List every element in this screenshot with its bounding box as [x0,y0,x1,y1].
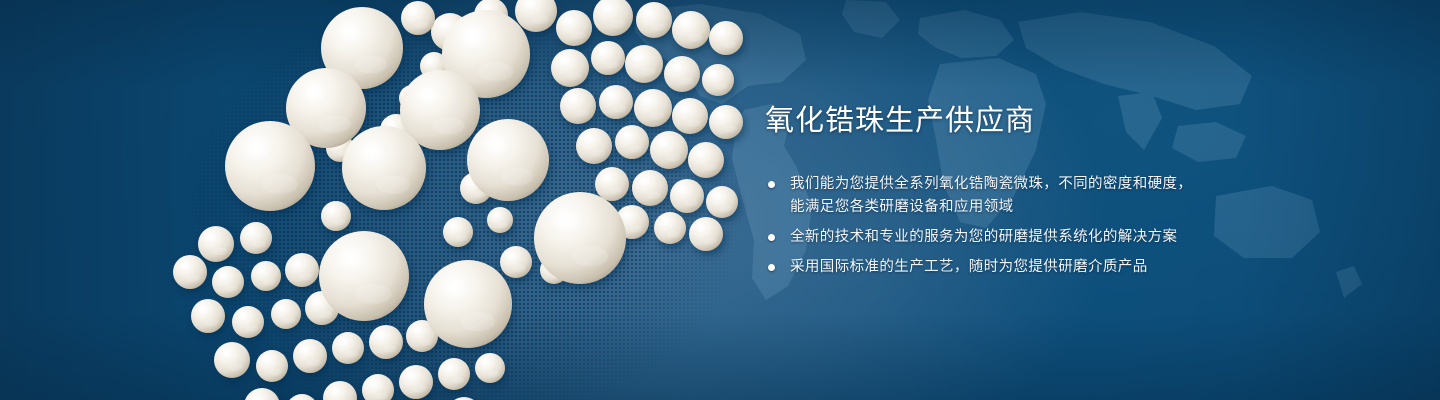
bullet-dot-icon [768,264,775,271]
list-item-line: 全新的技术和专业的服务为您的研磨提供系统化的解决方案 [790,226,1385,249]
list-item-line: 能满足您各类研磨设备和应用领域 [790,196,1385,219]
list-item-line: 采用国际标准的生产工艺，随时为您提供研磨介质产品 [790,256,1385,279]
list-item: 全新的技术和专业的服务为您的研磨提供系统化的解决方案 [765,226,1385,249]
zirconia-beads-photo [150,0,750,400]
bullet-dot-icon [768,181,775,188]
page-title: 氧化锆珠生产供应商 [765,104,1385,139]
bullet-dot-icon [768,234,775,241]
list-item: 采用国际标准的生产工艺，随时为您提供研磨介质产品 [765,256,1385,279]
feature-list: 我们能为您提供全系列氧化锆陶瓷微珠，不同的密度和硬度， 能满足您各类研磨设备和应… [765,173,1385,279]
hero-banner: 氧化锆珠生产供应商 我们能为您提供全系列氧化锆陶瓷微珠，不同的密度和硬度， 能满… [0,0,1440,400]
list-item: 我们能为您提供全系列氧化锆陶瓷微珠，不同的密度和硬度， 能满足您各类研磨设备和应… [765,173,1385,219]
banner-copy: 氧化锆珠生产供应商 我们能为您提供全系列氧化锆陶瓷微珠，不同的密度和硬度， 能满… [765,104,1385,279]
list-item-line: 我们能为您提供全系列氧化锆陶瓷微珠，不同的密度和硬度， [790,173,1385,196]
